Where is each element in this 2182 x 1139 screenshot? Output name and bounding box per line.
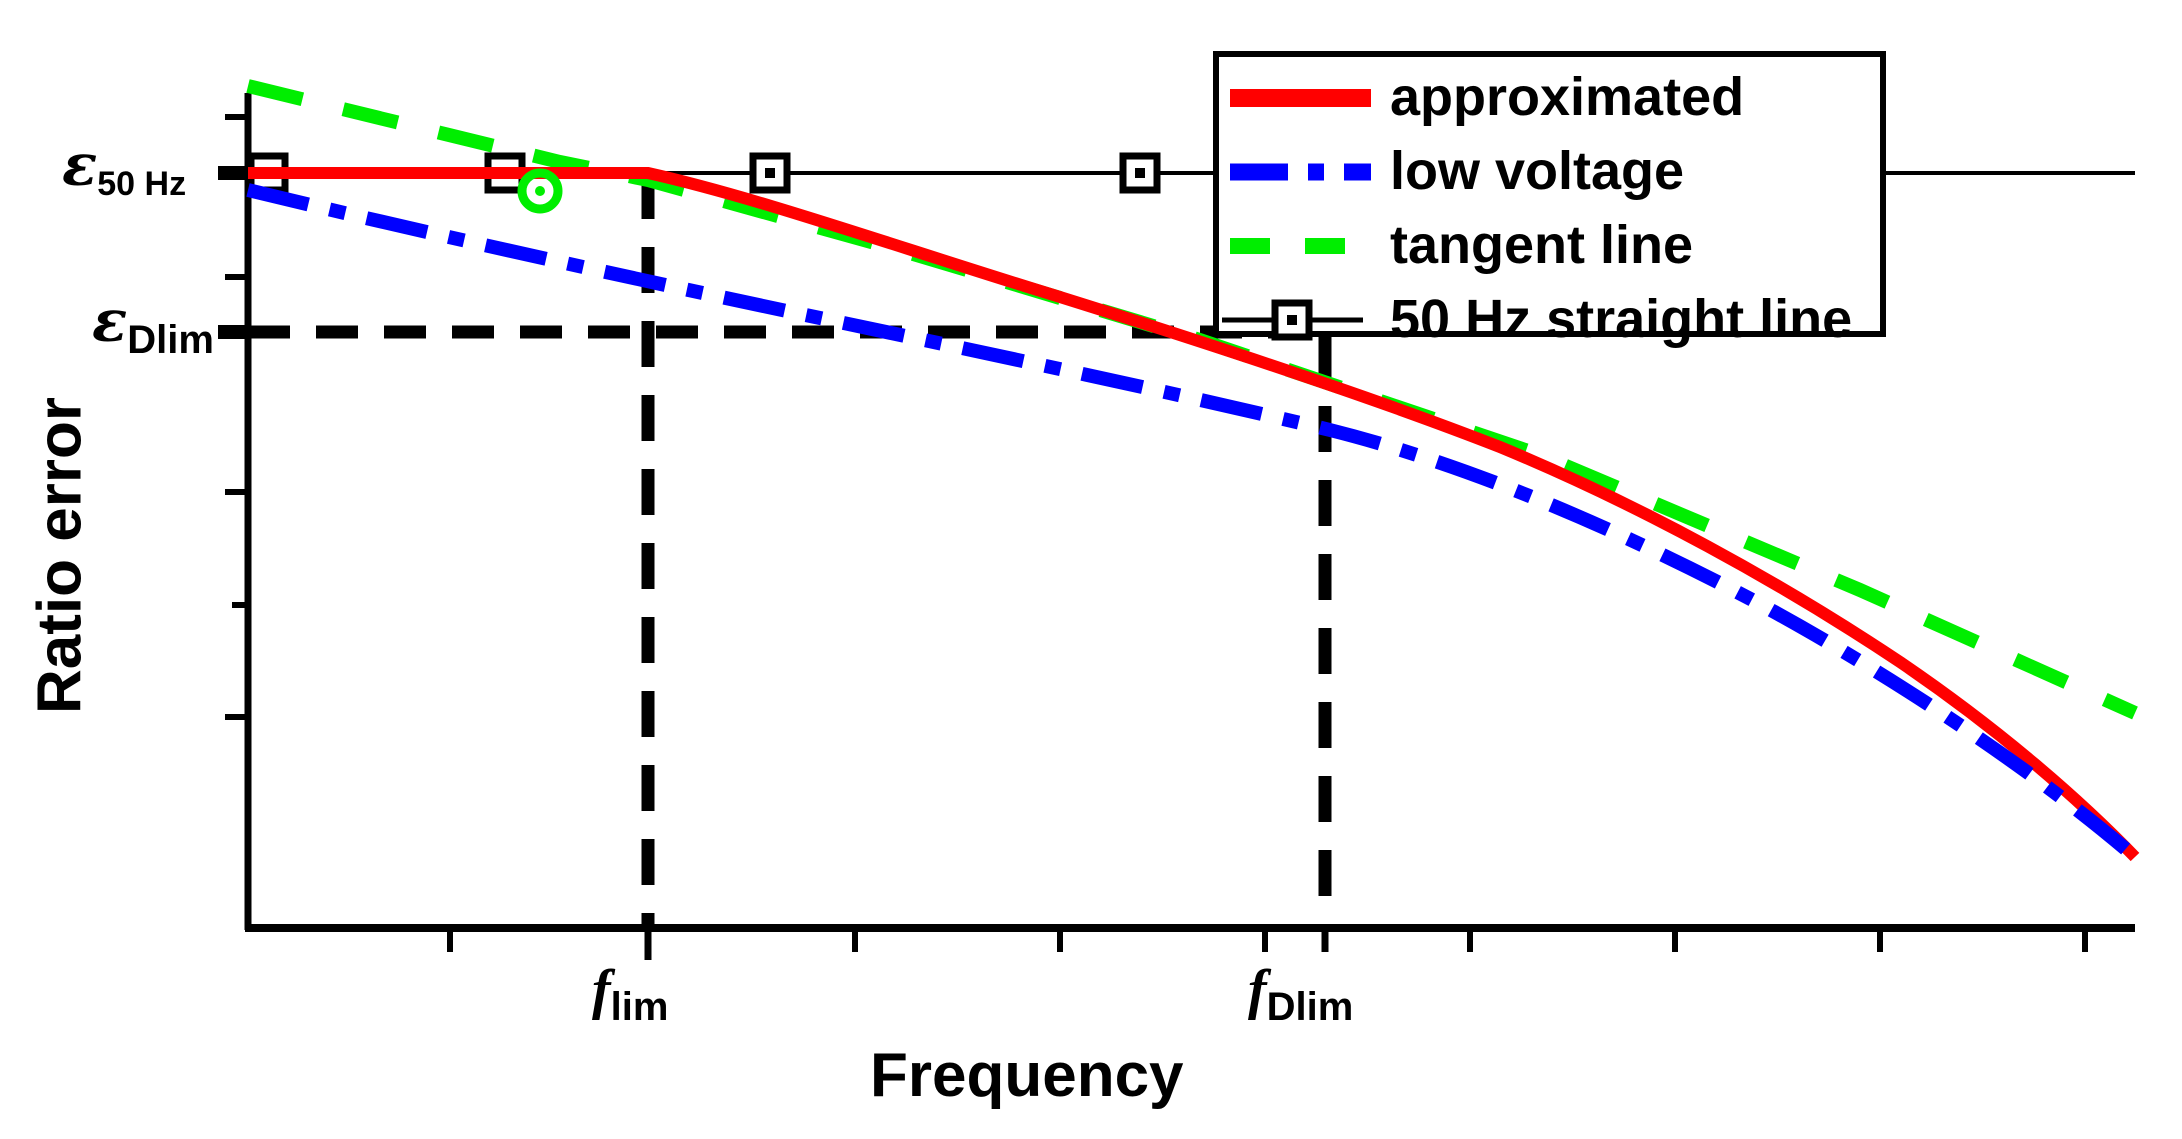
guide-lines-group xyxy=(248,173,1325,928)
eps-symbol: ε xyxy=(92,287,127,355)
f-symbol: f xyxy=(592,959,611,1021)
legend-label-low-voltage: low voltage xyxy=(1390,144,1684,198)
y-tick-label-eps-dlim: εDlim xyxy=(92,292,214,363)
chart-figure: Ratio error Frequency ε50 Hz εDlim flim … xyxy=(0,0,2182,1139)
legend-label-50hz-straight-line: 50 Hz straight line xyxy=(1390,292,1852,346)
x-axis-title: Frequency xyxy=(870,1040,1184,1111)
chart-canvas xyxy=(0,0,2182,1139)
y-axis-title: Ratio error xyxy=(25,386,96,726)
f-symbol: f xyxy=(1248,959,1267,1021)
eps-symbol: ε xyxy=(62,131,97,199)
eps-dlim-subscript: Dlim xyxy=(127,318,214,362)
eps-50hz-subscript: 50 Hz xyxy=(97,165,186,203)
y-axis-ticks xyxy=(218,117,248,717)
x-tick-label-f-lim: flim xyxy=(592,962,668,1030)
legend-label-tangent-line: tangent line xyxy=(1390,218,1693,272)
y-tick-label-eps-50hz: ε50 Hz xyxy=(62,136,186,204)
f-dlim-subscript: Dlim xyxy=(1267,985,1354,1029)
f-lim-subscript: lim xyxy=(611,985,669,1029)
x-tick-label-f-dlim: fDlim xyxy=(1248,962,1353,1030)
legend-label-approximated: approximated xyxy=(1390,70,1744,124)
x-axis-ticks xyxy=(450,928,2085,960)
